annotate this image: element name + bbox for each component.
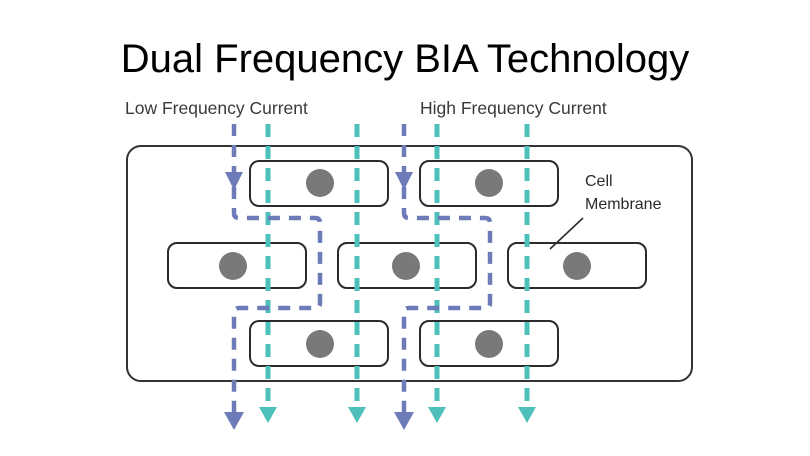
nucleus [306, 169, 334, 197]
arrowhead-hf-exit-1-icon [259, 407, 277, 423]
cell-bottom-left [250, 321, 388, 366]
legend-label-high-frequency: High Frequency Current [420, 98, 607, 118]
nucleus [306, 330, 334, 358]
nucleus [563, 252, 591, 280]
legend-label-low-frequency: Low Frequency Current [125, 98, 308, 118]
nucleus [392, 252, 420, 280]
arrowhead-lf-exit-left-icon [224, 412, 244, 430]
cell-top-left [250, 161, 388, 206]
callout-line-2: Membrane [585, 196, 662, 213]
nucleus [475, 169, 503, 197]
arrowhead-hf-exit-3-icon [428, 407, 446, 423]
arrowhead-hf-exit-4-icon [518, 407, 536, 423]
cell-bottom-right [420, 321, 558, 366]
dual-frequency-bia-diagram: Dual Frequency BIA Technology Low Freque… [0, 0, 810, 456]
nucleus [475, 330, 503, 358]
cell-top-right [420, 161, 558, 206]
cell-mid-left [168, 243, 306, 288]
arrowhead-hf-exit-2-icon [348, 407, 366, 423]
callout-line-1: Cell [585, 173, 613, 190]
page-title: Dual Frequency BIA Technology [121, 37, 690, 81]
arrowhead-lf-exit-right-icon [394, 412, 414, 430]
nucleus [219, 252, 247, 280]
diagram-canvas: Dual Frequency BIA Technology Low Freque… [0, 0, 810, 456]
